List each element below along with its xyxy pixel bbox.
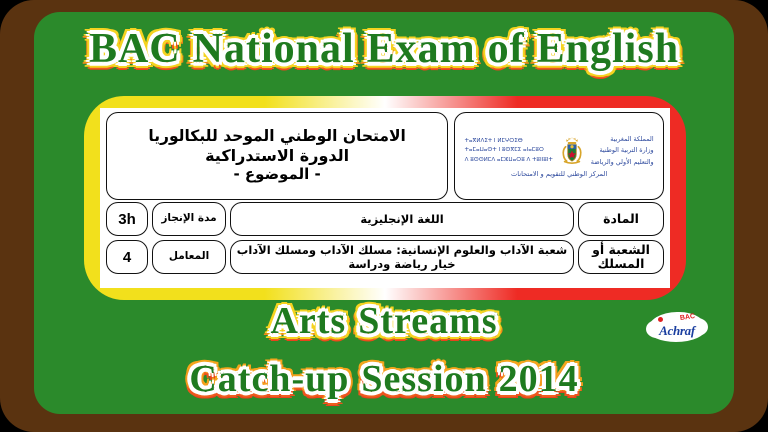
- exam-document: الامتحان الوطني الموحد للبكالوريا الدورة…: [100, 108, 670, 288]
- title-top: BACNationalExamofEnglish: [34, 28, 734, 70]
- exam-title-box: الامتحان الوطني الموحد للبكالوريا الدورة…: [106, 112, 448, 200]
- subject-value: اللغة الإنجليزية: [230, 202, 574, 236]
- title-word: Arts: [264, 302, 352, 340]
- coefficient-label: المعامل: [152, 240, 226, 274]
- exam-title-line2: الدورة الاستدراكية: [205, 147, 349, 165]
- title-word: of: [482, 28, 531, 70]
- coefficient-value: 4: [106, 240, 148, 274]
- ministry-footer: المركز الوطني للتقويم و الامتحانات: [459, 170, 659, 178]
- subject-label: المادة: [578, 202, 664, 236]
- document-sheet: الامتحان الوطني الموحد للبكالوريا الدورة…: [100, 108, 670, 288]
- ministry-line: وزارة التربية الوطنية: [591, 145, 654, 156]
- tifinagh-line: ⴷ ⵓⵙⵙⵍⵎⴷ ⴰⵎⵣⵡⴰⵔⵓ ⴷ ⵜⵓⵏⵏⵓⵏⵜ: [465, 156, 553, 165]
- poster-stage: BACNationalExamofEnglish الامتحان الوطني…: [0, 0, 768, 432]
- title-word: Session: [355, 360, 492, 398]
- ministry-tifinagh: ⵜⴰⴳⵍⴷⵉⵜ ⵏ ⵍⵎⵖⵔⵉⴱ ⵜⴰⵎⴰⵡⴰⵙⵜ ⵏ ⵓⵙⴳⵎⵉ ⴰⵏⴰⵎⵓⵔ…: [465, 137, 553, 165]
- achraf-watermark: BAC Achraf: [646, 308, 708, 346]
- title-word: Catch-up: [183, 360, 355, 398]
- badge-dot-icon: [658, 317, 663, 322]
- title-word: Exam: [361, 28, 482, 70]
- ministry-arabic: المملكة المغربية وزارة التربية الوطنية و…: [591, 134, 654, 168]
- tifinagh-line: ⵜⴰⴳⵍⴷⵉⵜ ⵏ ⵍⵎⵖⵔⵉⴱ: [465, 137, 553, 146]
- morocco-coat-of-arms-icon: [555, 134, 589, 168]
- title-word: National: [187, 28, 361, 70]
- title-word: Streams: [352, 302, 503, 340]
- ministry-line: المملكة المغربية: [591, 134, 654, 145]
- ministry-line: والتعليم الأولي والرياضة: [591, 157, 654, 168]
- table-row: 3h مدة الإنجاز اللغة الإنجليزية المادة: [100, 200, 670, 238]
- title-word: 2014: [493, 360, 585, 398]
- duration-label: مدة الإنجاز: [152, 202, 226, 236]
- title-word: BAC: [83, 28, 187, 70]
- stream-value: شعبة الآداب والعلوم الإنسانية: مسلك الآد…: [230, 240, 574, 274]
- title-middle: ArtsStreams: [34, 302, 734, 340]
- exam-title-line1: الامتحان الوطني الموحد للبكالوريا: [148, 128, 405, 146]
- duration-value: 3h: [106, 202, 148, 236]
- green-panel: BACNationalExamofEnglish الامتحان الوطني…: [34, 12, 734, 414]
- title-word: English: [531, 28, 685, 70]
- title-bottom: Catch-upSession2014: [34, 360, 734, 398]
- table-row: 4 المعامل شعبة الآداب والعلوم الإنسانية:…: [100, 238, 670, 276]
- badge-name: Achraf: [651, 323, 703, 339]
- exam-title-line3: - الموضوع -: [233, 166, 320, 183]
- ministry-box: ⵜⴰⴳⵍⴷⵉⵜ ⵏ ⵍⵎⵖⵔⵉⴱ ⵜⴰⵎⴰⵡⴰⵙⵜ ⵏ ⵓⵙⴳⵎⵉ ⴰⵏⴰⵎⵓⵔ…: [454, 112, 664, 200]
- document-header: الامتحان الوطني الموحد للبكالوريا الدورة…: [100, 108, 670, 200]
- stream-label: الشعبة أو المسلك: [578, 240, 664, 274]
- tifinagh-line: ⵜⴰⵎⴰⵡⴰⵙⵜ ⵏ ⵓⵙⴳⵎⵉ ⴰⵏⴰⵎⵓⵔ: [465, 146, 553, 155]
